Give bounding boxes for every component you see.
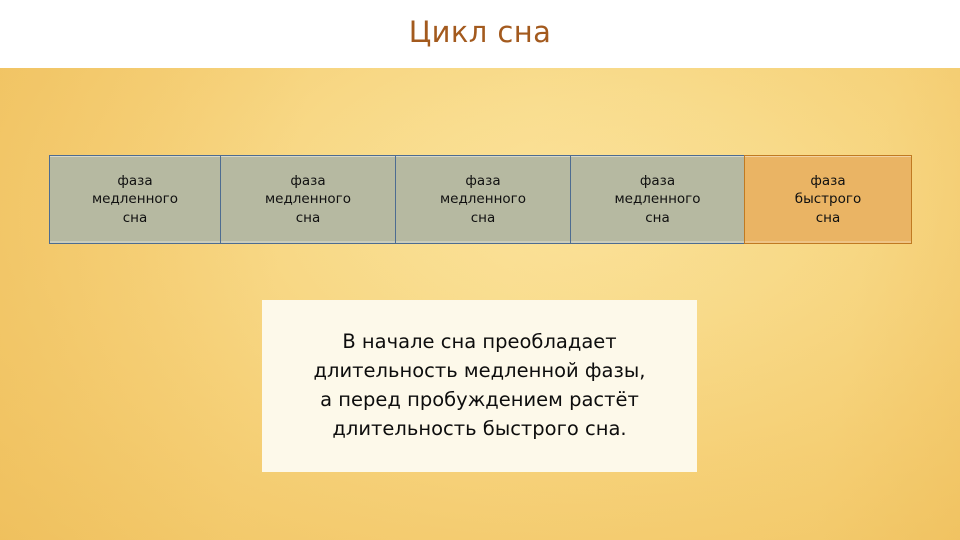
caption-line-4: длительность быстрого сна. <box>332 414 626 443</box>
phase-box-fast-1[interactable]: фаза быстрого сна <box>744 155 912 244</box>
phase-box-label: фаза медленного сна <box>261 172 355 228</box>
phase-box-label: фаза медленного сна <box>436 172 530 228</box>
caption-line-3: а перед пробуждением растёт <box>320 385 639 414</box>
phase-box-slow-2[interactable]: фаза медленного сна <box>220 155 396 244</box>
page-title: Цикл сна <box>0 15 960 49</box>
title-band: Цикл сна <box>0 0 960 68</box>
sleep-phase-strip: фаза медленного сна фаза медленного сна … <box>49 155 912 244</box>
phase-box-slow-4[interactable]: фаза медленного сна <box>570 155 745 244</box>
caption-card: В начале сна преобладает длительность ме… <box>262 300 697 472</box>
phase-box-slow-1[interactable]: фаза медленного сна <box>49 155 221 244</box>
phase-box-label: фаза медленного сна <box>610 172 704 228</box>
phase-box-label: фаза медленного сна <box>88 172 182 228</box>
phase-box-label: фаза быстрого сна <box>791 172 865 228</box>
phase-box-slow-3[interactable]: фаза медленного сна <box>395 155 571 244</box>
caption-line-1: В начале сна преобладает <box>342 327 616 356</box>
slide-canvas: Цикл сна фаза медленного сна фаза медлен… <box>0 0 960 540</box>
caption-line-2: длительность медленной фазы, <box>314 356 646 385</box>
